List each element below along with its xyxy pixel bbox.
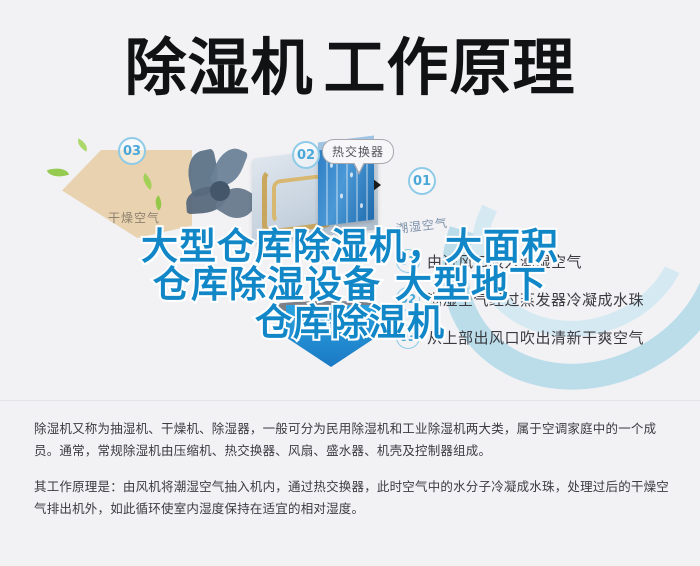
leaf-icon [75, 138, 90, 151]
water-tank-label: 水箱 [310, 317, 336, 334]
title-part-dehumidifier: 除湿机 [124, 37, 313, 99]
step-text: 潮湿空气经过蒸发器冷凝成水珠 [427, 289, 644, 310]
infographic-page: 除湿机 工作原理 干燥空气 [0, 0, 700, 566]
body-paragraph-1: 除湿机又称为抽湿机、干燥机、除湿器，一般可分为民用除湿机和工业除湿机两大类，属于… [34, 418, 670, 462]
diagram-illustration: 干燥空气 水箱 03 [0, 125, 700, 395]
step-number: 03 [396, 325, 420, 349]
list-item: 02 潮湿空气经过蒸发器冷凝成水珠 [396, 287, 696, 311]
step-number: 02 [396, 287, 420, 311]
list-item: 01 由进风口吸入潮湿空气 [396, 249, 696, 273]
marker-humid-air: 01 [408, 167, 436, 195]
step-list: 01 由进风口吸入潮湿空气 02 潮湿空气经过蒸发器冷凝成水珠 03 从上部出风… [396, 249, 696, 363]
heat-exchanger-callout: 热交换器 [322, 139, 394, 164]
step-number: 01 [396, 249, 420, 273]
dry-air-label: 干燥空气 [108, 209, 160, 226]
body-paragraph-2: 其工作原理是：由风机将潮湿空气抽入机内，通过热交换器，此时空气中的水分子冷凝成水… [34, 476, 670, 520]
marker-heat-exchanger: 02 [292, 141, 320, 169]
humid-air-label: 潮湿空气 [395, 214, 449, 237]
list-item: 03 从上部出风口吹出清新干爽空气 [396, 325, 696, 349]
copper-coil-inner-icon [272, 174, 324, 224]
fan-hub [210, 181, 230, 201]
title-part-working-principle: 工作原理 [324, 37, 576, 99]
step-text: 从上部出风口吹出清新干爽空气 [427, 327, 644, 348]
step-text: 由进风口吸入潮湿空气 [427, 251, 582, 272]
section-divider [0, 400, 700, 401]
body-copy: 除湿机又称为抽湿机、干燥机、除湿器，一般可分为民用除湿机和工业除湿机两大类，属于… [34, 418, 670, 534]
page-title: 除湿机 工作原理 [0, 18, 700, 118]
leaf-icon [47, 164, 69, 181]
marker-dry-air: 03 [118, 137, 146, 165]
water-tank-icon [286, 305, 376, 367]
